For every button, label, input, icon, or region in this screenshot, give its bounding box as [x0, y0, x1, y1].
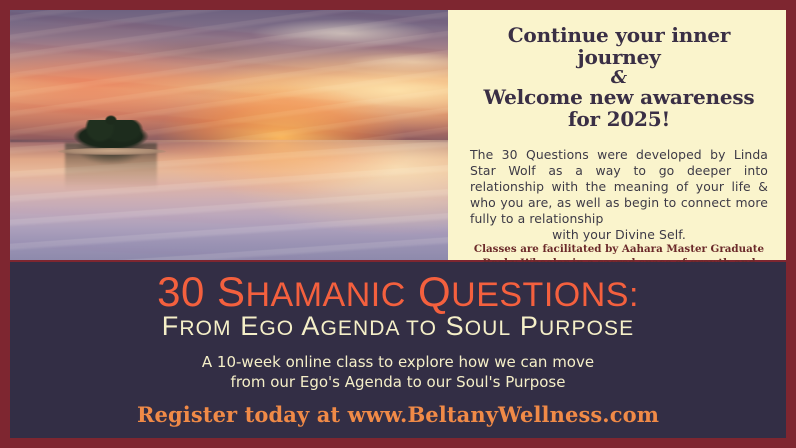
title-band: 30 SHAMANIC QUESTIONS: FROM EGO AGENDA T…: [10, 262, 786, 438]
subtitle-part-g: TO: [399, 317, 437, 340]
subtitle-part-d: GO: [259, 317, 294, 340]
title-part-a: 30 S: [157, 268, 245, 315]
panel-headline: Continue your inner journey & Welcome ne…: [466, 24, 772, 131]
main-subtitle: FROM EGO AGENDA TO SOUL PURPOSE: [10, 312, 786, 342]
panel-body-copy: The 30 Questions were developed by Linda…: [466, 147, 772, 244]
subtitle-part-c: E: [232, 311, 260, 341]
headline-line-1: Continue your inner journey: [466, 24, 772, 69]
body-main-text: The 30 Questions were developed by Linda…: [470, 147, 768, 227]
register-call-to-action[interactable]: Register today at www.BeltanyWellness.co…: [10, 402, 786, 427]
subtitle-part-k: URPOSE: [539, 317, 634, 340]
desc-line-1: A 10-week online class to explore how we…: [10, 353, 786, 373]
title-part-c: Q: [406, 268, 451, 315]
subtitle-part-e: A: [294, 311, 320, 341]
palm-tree-icon: [103, 113, 119, 125]
title-part-d: UESTIONS:: [451, 276, 639, 314]
class-description: A 10-week online class to explore how we…: [10, 353, 786, 393]
main-title: 30 SHAMANIC QUESTIONS:: [10, 270, 786, 314]
subtitle-part-b: ROM: [179, 317, 231, 340]
body-last-line: with your Divine Self.: [470, 227, 768, 243]
promotional-flyer: Continue your inner journey & Welcome ne…: [0, 0, 796, 448]
subtitle-part-i: OUL: [465, 317, 511, 340]
subtitle-part-j: P: [511, 311, 539, 341]
sunset-island-photo: [10, 10, 448, 260]
subtitle-part-h: S: [437, 311, 465, 341]
headline-ampersand: &: [466, 69, 772, 86]
headline-line-2: Welcome new awareness for 2025!: [466, 86, 772, 131]
desc-line-2: from our Ego's Agenda to our Soul's Purp…: [10, 373, 786, 393]
cream-text-panel: Continue your inner journey & Welcome ne…: [448, 10, 786, 260]
subtitle-part-f: GENDA: [320, 317, 399, 340]
title-part-b: HAMANIC: [246, 276, 406, 314]
subtitle-part-a: F: [162, 311, 180, 341]
credit-line-1: Classes are facilitated by Aahara Master…: [466, 243, 772, 257]
top-row: Continue your inner journey & Welcome ne…: [10, 10, 786, 260]
island-shoreline: [58, 148, 166, 155]
